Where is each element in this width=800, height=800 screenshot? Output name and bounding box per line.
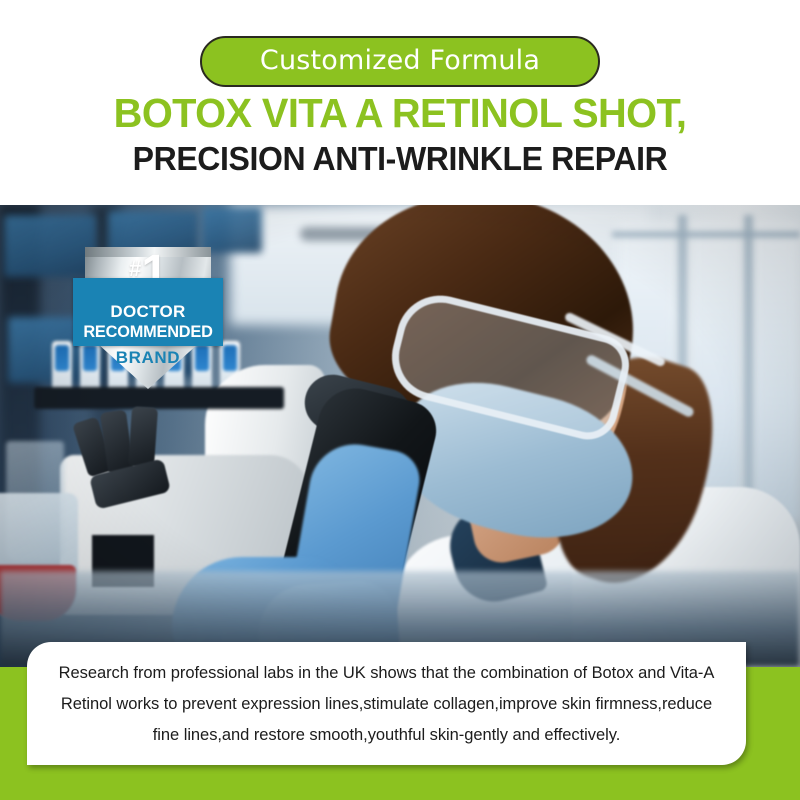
description-text: Research from professional labs in the U… xyxy=(57,658,716,751)
badge-line-recommended: RECOMMENDED xyxy=(76,323,220,340)
page-title: BOTOX VITA A RETINOL SHOT, xyxy=(12,92,788,135)
badge-brand-label: BRAND xyxy=(85,349,211,366)
page-subtitle: PRECISION ANTI-WRINKLE REPAIR xyxy=(12,141,788,177)
badge-line-doctor: DOCTOR xyxy=(73,303,223,320)
doctor-recommended-badge: #1 DOCTOR RECOMMENDED BRAND xyxy=(85,247,211,389)
badge-banner: DOCTOR RECOMMENDED xyxy=(73,278,223,346)
header-section: Customized Formula BOTOX VITA A RETINOL … xyxy=(0,0,800,205)
promo-banner: Customized Formula BOTOX VITA A RETINOL … xyxy=(0,0,800,800)
description-panel: Research from professional labs in the U… xyxy=(27,642,746,765)
customized-formula-badge: Customized Formula xyxy=(200,36,600,87)
pill-wrapper: Customized Formula xyxy=(0,36,800,87)
